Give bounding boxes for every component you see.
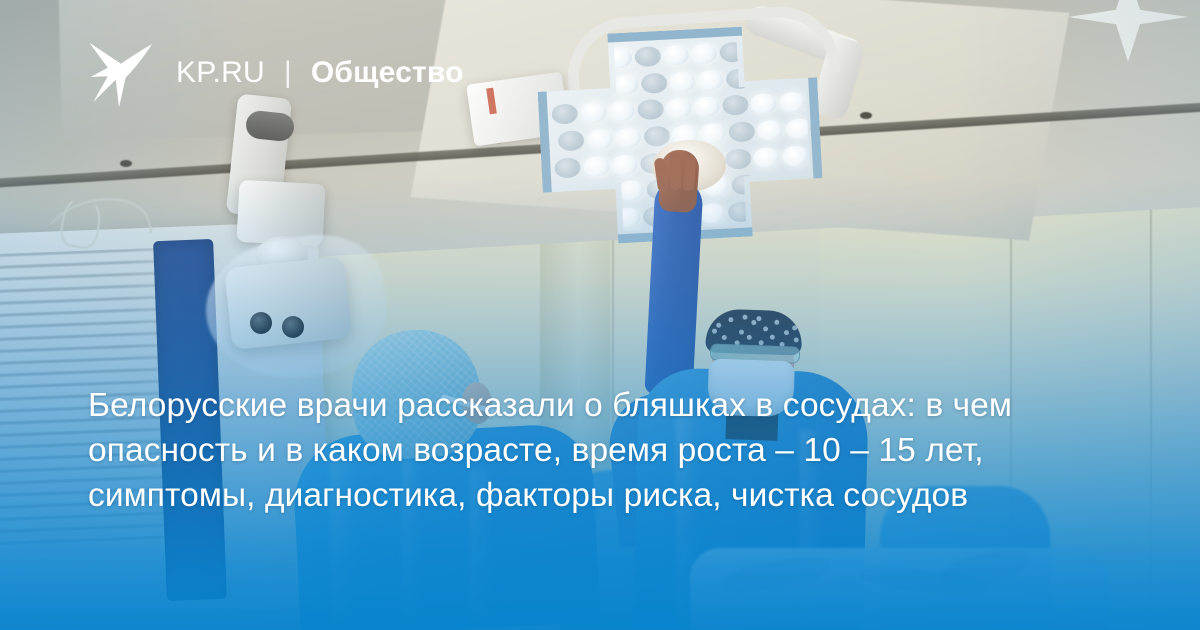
- category-label[interactable]: Общество: [311, 56, 464, 90]
- brand-bar: KP.RU | Общество: [88, 38, 464, 108]
- swallow-bird-logo-icon: [88, 38, 154, 108]
- site-name[interactable]: KP.RU: [176, 56, 265, 90]
- brand-separator: |: [284, 56, 292, 90]
- article-social-card: KP.RU | Общество Белорусские врачи расск…: [0, 0, 1200, 630]
- article-headline: Белорусские врачи рассказали о бляшках в…: [88, 383, 1120, 518]
- brand-text: KP.RU | Общество: [176, 56, 464, 90]
